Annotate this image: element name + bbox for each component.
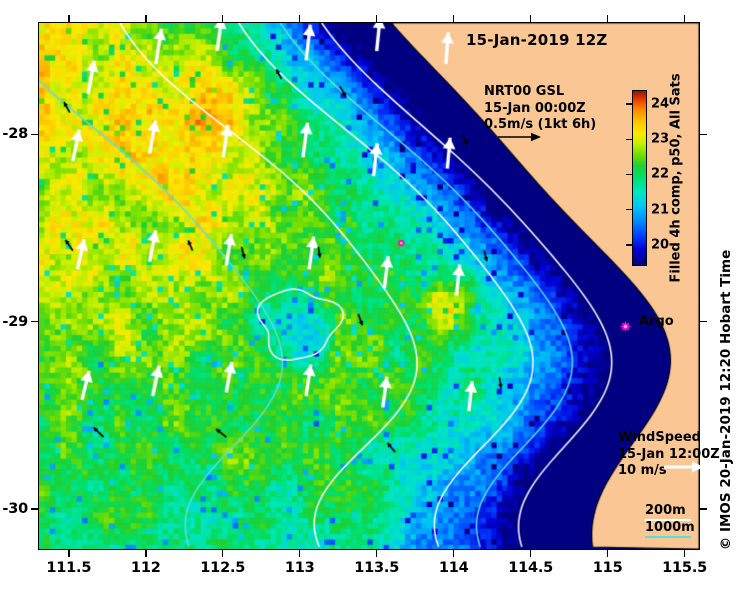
x-tick-label: 113.5 (354, 560, 399, 576)
colorbar-tick-label: 24 (651, 97, 669, 112)
x-tick-mark (453, 15, 455, 22)
x-tick-label: 112.5 (200, 560, 245, 576)
x-tick-mark (299, 550, 301, 557)
y-tick-mark (700, 508, 707, 510)
argo-legend-label: Argo (639, 314, 674, 329)
x-tick-mark (68, 550, 70, 557)
x-tick-mark (607, 15, 609, 22)
x-tick-mark (145, 15, 147, 22)
x-tick-mark (376, 550, 378, 557)
y-tick-mark (31, 321, 38, 323)
x-tick-mark (376, 15, 378, 22)
x-tick-mark (453, 550, 455, 557)
x-tick-mark (68, 15, 70, 22)
x-tick-label: 114 (439, 560, 469, 576)
colorbar-tick-label: 21 (651, 202, 669, 217)
figure-canvas: 111.5112112.5113113.5114114.5115115.5 -2… (0, 0, 739, 592)
argo-marker-icon (620, 317, 631, 328)
x-tick-mark (607, 550, 609, 557)
colorbar[interactable] (632, 90, 647, 266)
credit-text: © IMOS 20-Jan-2019 12:20 Hobart Time (718, 250, 734, 550)
depth-legend-200m: 200m (645, 503, 695, 520)
x-tick-label: 112 (131, 560, 161, 576)
colorbar-tick-mark (626, 139, 632, 141)
x-tick-label: 111.5 (46, 560, 91, 576)
colorbar-tick-label: 22 (651, 167, 669, 182)
map-date-title: 15-Jan-2019 12Z (466, 31, 607, 49)
x-tick-mark (222, 15, 224, 22)
current-legend: NRT00 GSL 15-Jan 00:00Z 0.5m/s (1kt 6h) (484, 84, 596, 134)
wind-vector-arrow-icon (664, 460, 704, 474)
colorbar-tick-label: 23 (651, 132, 669, 147)
colorbar-tick-mark (626, 103, 632, 105)
y-tick-mark (700, 321, 707, 323)
x-tick-label: 113 (285, 560, 315, 576)
x-tick-mark (145, 550, 147, 557)
depth-legend-1000m: 1000m (645, 520, 695, 537)
y-tick-mark (31, 134, 38, 136)
depth-200m-line-swatch (645, 519, 691, 521)
y-tick-mark (31, 508, 38, 510)
current-legend-line1: NRT00 GSL (484, 84, 596, 101)
colorbar-tick-mark (626, 209, 632, 211)
sst-map-plot[interactable] (38, 22, 700, 550)
y-tick-mark (700, 134, 707, 136)
colorbar-tick-label: 20 (651, 237, 669, 252)
y-tick-label: -29 (2, 314, 28, 330)
x-tick-mark (530, 15, 532, 22)
y-tick-label: -28 (2, 126, 28, 142)
depth-1000m-line-swatch (645, 536, 691, 538)
x-tick-mark (530, 550, 532, 557)
wind-legend-line1: WindSpeed (618, 430, 720, 447)
x-tick-mark (684, 15, 686, 22)
sst-heatmap-canvas (39, 23, 699, 549)
x-tick-mark (299, 15, 301, 22)
y-tick-label: -30 (2, 501, 28, 517)
x-tick-label: 114.5 (508, 560, 553, 576)
current-legend-line2: 15-Jan 00:00Z (484, 101, 596, 118)
current-vector-arrow-icon (497, 131, 541, 143)
x-tick-label: 115.5 (662, 560, 707, 576)
colorbar-title: Filled 4h comp, p50, All Sats (669, 73, 684, 282)
x-tick-mark (684, 550, 686, 557)
x-tick-label: 115 (593, 560, 623, 576)
colorbar-tick-mark (626, 174, 632, 176)
x-tick-mark (222, 550, 224, 557)
colorbar-tick-mark (626, 244, 632, 246)
